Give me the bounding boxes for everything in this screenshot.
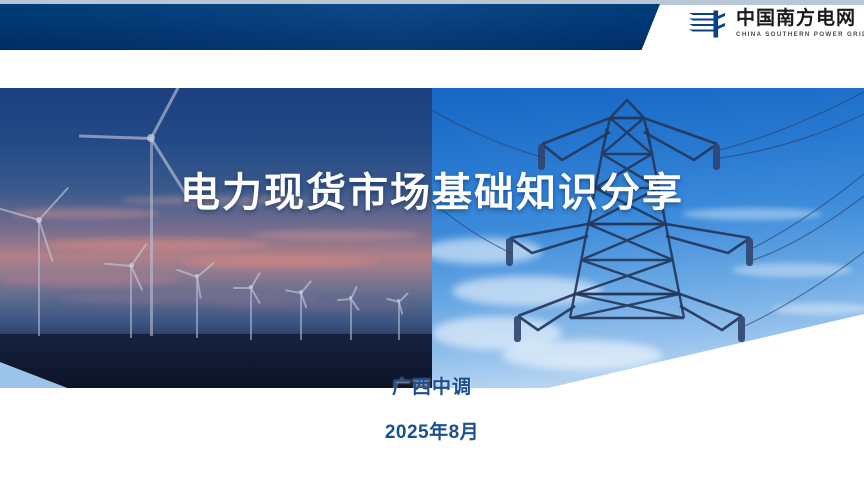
logo-text-block: 中国南方电网 CHINA SOUTHERN POWER GRID: [736, 9, 864, 40]
southern-power-grid-mark-icon: [688, 9, 728, 39]
wind-turbines-at-sunset-photo: [0, 88, 432, 388]
header-bar: [0, 4, 660, 50]
wind-turbine: [350, 292, 352, 340]
presentation-date: 2025年8月: [0, 419, 864, 448]
presentation-slide: 中国南方电网 CHINA SOUTHERN POWER GRID: [0, 0, 864, 486]
organization-name: 广西中调: [0, 374, 864, 403]
wind-turbine: [196, 268, 198, 338]
logo-company-name-en: CHINA SOUTHERN POWER GRID: [736, 31, 864, 40]
slide-title: 电力现货市场基础知识分享: [0, 160, 864, 218]
slide-footer-block: 广西中调 2025年8月: [0, 374, 864, 447]
company-logo: 中国南方电网 CHINA SOUTHERN POWER GRID: [688, 9, 864, 40]
wind-turbine: [398, 296, 400, 340]
hero-image-band: [0, 88, 864, 388]
wind-turbine: [250, 280, 252, 340]
wind-turbine: [130, 256, 132, 338]
wind-turbine: [300, 286, 302, 340]
wind-turbine: [150, 116, 152, 336]
logo-company-name-cn: 中国南方电网: [736, 9, 864, 29]
wind-turbine: [38, 206, 40, 336]
